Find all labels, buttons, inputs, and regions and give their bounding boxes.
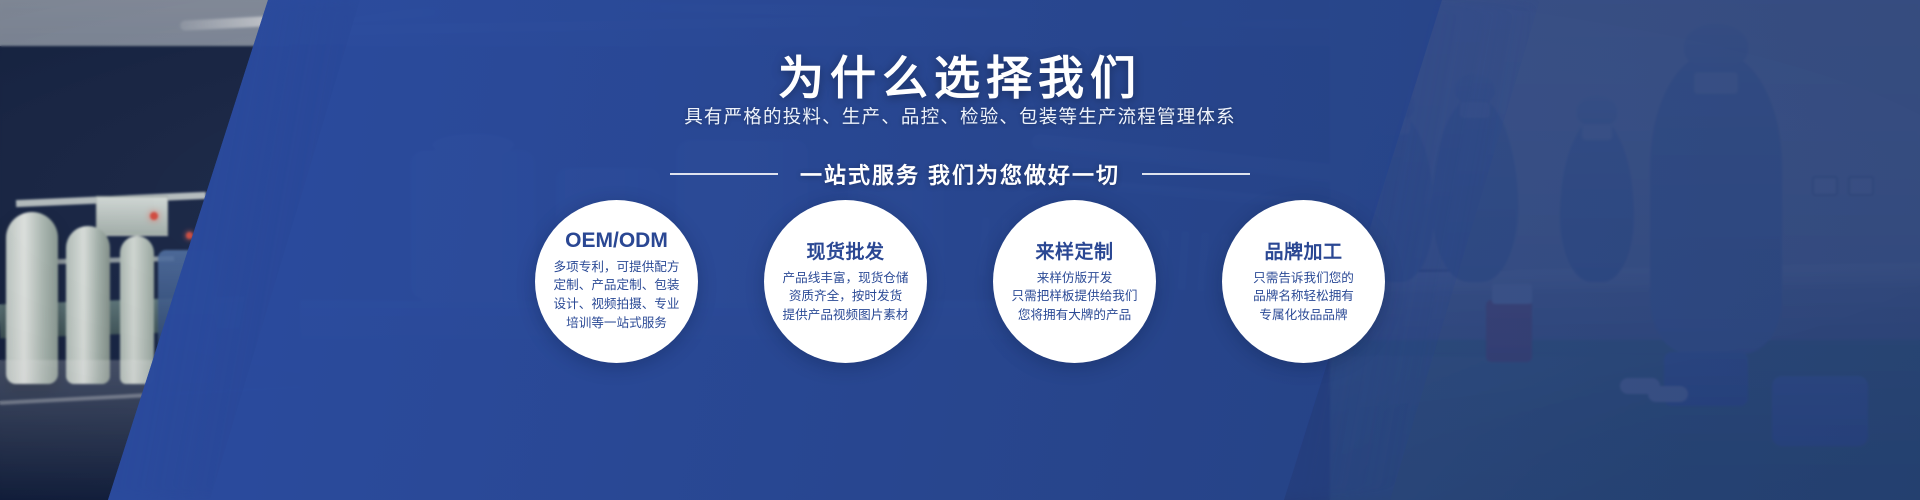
service-description-line: 定制、产品定制、包装 [554, 276, 680, 295]
service-circle-sample-customization[interactable]: 来样定制来样仿版开发只需把样板提供给我们您将拥有大牌的产品 [993, 200, 1156, 363]
service-description: 只需告诉我们您的品牌名称轻松拥有专属化妆品品牌 [1253, 269, 1354, 325]
service-description-line: 资质齐全，按时发货 [783, 287, 909, 306]
service-description-line: 产品线丰富，现货仓储 [783, 269, 909, 288]
service-circle-oem-odm[interactable]: OEM/ODM多项专利，可提供配方定制、产品定制、包装设计、视频拍摄、专业培训等… [535, 200, 698, 363]
service-title: OEM/ODM [565, 229, 668, 253]
banner-slogan: 一站式服务 我们为您做好一切 [800, 158, 1120, 190]
service-description-line: 您将拥有大牌的产品 [1012, 306, 1138, 325]
service-description: 多项专利，可提供配方定制、产品定制、包装设计、视频拍摄、专业培训等一站式服务 [554, 258, 680, 333]
service-title: 现货批发 [806, 237, 884, 264]
slogan-row: 一站式服务 我们为您做好一切 [0, 158, 1920, 190]
service-circle-stock-wholesale[interactable]: 现货批发产品线丰富，现货仓储资质齐全，按时发货提供产品视频图片素材 [764, 200, 927, 363]
service-description: 产品线丰富，现货仓储资质齐全，按时发货提供产品视频图片素材 [783, 269, 909, 325]
service-description-line: 只需告诉我们您的 [1253, 269, 1354, 288]
service-description-line: 设计、视频拍摄、专业 [554, 295, 680, 314]
service-title: 来样定制 [1035, 237, 1113, 264]
divider-rule-right [1142, 173, 1250, 175]
service-description-line: 品牌名称轻松拥有 [1253, 287, 1354, 306]
banner-subtitle: 具有严格的投料、生产、品控、检验、包装等生产流程管理体系 [0, 103, 1920, 129]
service-circle-brand-processing[interactable]: 品牌加工只需告诉我们您的品牌名称轻松拥有专属化妆品品牌 [1222, 200, 1385, 363]
service-description-line: 提供产品视频图片素材 [783, 306, 909, 325]
banner-content: 为什么选择我们 具有严格的投料、生产、品控、检验、包装等生产流程管理体系 一站式… [0, 0, 1920, 500]
why-choose-us-banner: 为什么选择我们 具有严格的投料、生产、品控、检验、包装等生产流程管理体系 一站式… [0, 0, 1920, 500]
service-description: 来样仿版开发只需把样板提供给我们您将拥有大牌的产品 [1012, 269, 1138, 325]
service-description-line: 培训等一站式服务 [554, 314, 680, 333]
service-description-line: 专属化妆品品牌 [1253, 306, 1354, 325]
service-title: 品牌加工 [1264, 237, 1342, 264]
service-description-line: 只需把样板提供给我们 [1012, 287, 1138, 306]
service-description-line: 多项专利，可提供配方 [554, 258, 680, 277]
banner-title: 为什么选择我们 [0, 42, 1920, 108]
divider-rule-left [670, 173, 778, 175]
service-circle-list: OEM/ODM多项专利，可提供配方定制、产品定制、包装设计、视频拍摄、专业培训等… [0, 200, 1920, 363]
service-description-line: 来样仿版开发 [1012, 269, 1138, 288]
